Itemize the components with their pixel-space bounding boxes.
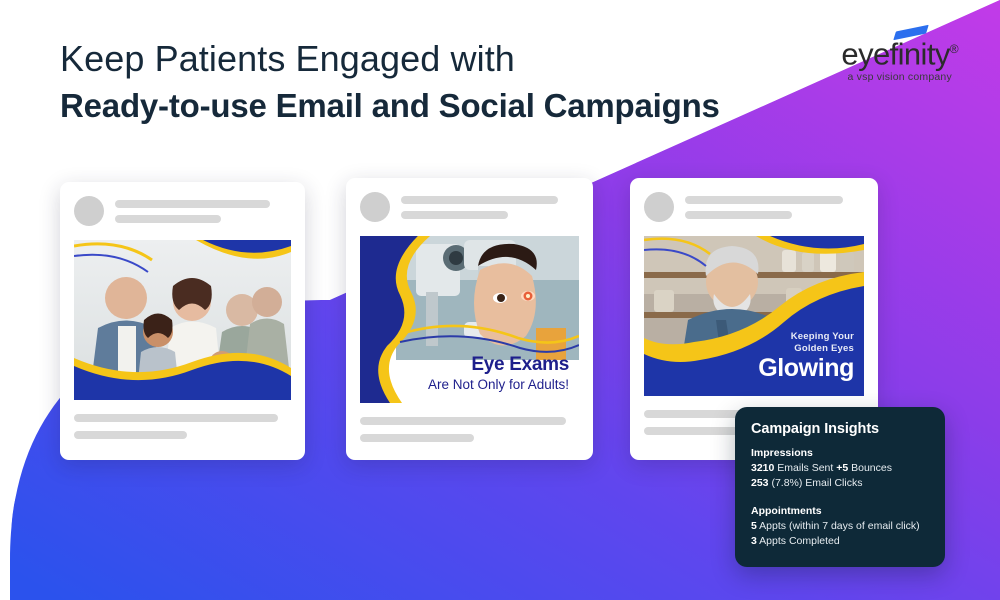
eyefinity-logo: eyefinity® a vsp vision company bbox=[841, 30, 958, 83]
insights-group-appointments: Appointments 5 Appts (within 7 days of e… bbox=[751, 504, 929, 549]
metric-text: Appts Completed bbox=[757, 535, 840, 547]
eye-exam-campaign-card[interactable]: Eye Exams Are Not Only for Adults! bbox=[346, 178, 593, 460]
card-header bbox=[346, 178, 593, 222]
card-header bbox=[60, 182, 305, 226]
header-placeholder-lines bbox=[685, 196, 864, 219]
skeleton-bar bbox=[401, 196, 558, 204]
insights-row: 3210 Emails Sent +5 Bounces bbox=[751, 461, 929, 476]
skeleton-bar bbox=[360, 417, 566, 425]
metric-text-secondary: Bounces bbox=[848, 462, 892, 474]
insights-row: 5 Appts (within 7 days of email click) bbox=[751, 519, 929, 534]
trademark-symbol: ® bbox=[950, 42, 958, 56]
metric-value: 253 bbox=[751, 477, 769, 489]
golden-eyes-caption: Keeping Your Golden Eyes Glowing bbox=[758, 331, 854, 382]
caption-line-1: Keeping Your bbox=[758, 331, 854, 343]
card-media: Eye Exams Are Not Only for Adults! bbox=[360, 236, 579, 403]
insights-group-label: Appointments bbox=[751, 504, 929, 519]
campaign-insights-panel: Campaign Insights Impressions 3210 Email… bbox=[735, 407, 945, 567]
skeleton-bar bbox=[401, 211, 508, 219]
avatar bbox=[74, 196, 104, 226]
headline-line-2: Ready-to-use Email and Social Campaigns bbox=[60, 84, 720, 128]
caption-line-2: Golden Eyes bbox=[758, 343, 854, 355]
insights-row: 253 (7.8%) Email Clicks bbox=[751, 476, 929, 491]
caption-title: Eye Exams bbox=[360, 354, 569, 375]
metric-text: (7.8%) Email Clicks bbox=[769, 477, 863, 489]
insights-group-impressions: Impressions 3210 Emails Sent +5 Bounces … bbox=[751, 446, 929, 491]
avatar bbox=[360, 192, 390, 222]
skeleton-bar bbox=[115, 200, 270, 208]
card-media: Keeping Your Golden Eyes Glowing bbox=[644, 236, 864, 396]
headline-line-1: Keep Patients Engaged with bbox=[60, 36, 720, 82]
header-placeholder-lines bbox=[115, 200, 291, 223]
header-placeholder-lines bbox=[401, 196, 579, 219]
skeleton-bar bbox=[74, 414, 278, 422]
eye-exam-caption: Eye Exams Are Not Only for Adults! bbox=[360, 354, 569, 393]
caption-subtitle: Are Not Only for Adults! bbox=[360, 376, 569, 393]
insights-group-label: Impressions bbox=[751, 446, 929, 461]
insights-title: Campaign Insights bbox=[751, 421, 929, 437]
marketing-banner: Keep Patients Engaged with Ready-to-use … bbox=[0, 0, 1000, 600]
card-footer bbox=[60, 400, 305, 455]
page-headline: Keep Patients Engaged with Ready-to-use … bbox=[60, 36, 720, 128]
metric-value: 3210 bbox=[751, 462, 774, 474]
skeleton-bar bbox=[74, 431, 187, 439]
metric-text: Appts (within 7 days of email click) bbox=[757, 520, 920, 532]
insights-row: 3 Appts Completed bbox=[751, 534, 929, 549]
family-campaign-card[interactable] bbox=[60, 182, 305, 460]
family-campaign-image bbox=[74, 240, 291, 400]
skeleton-bar bbox=[685, 196, 843, 204]
metric-text: Emails Sent bbox=[774, 462, 836, 474]
card-media bbox=[74, 240, 291, 400]
skeleton-bar bbox=[360, 434, 474, 442]
card-header bbox=[630, 178, 878, 222]
caption-line-3: Glowing bbox=[758, 355, 854, 382]
skeleton-bar bbox=[685, 211, 792, 219]
logo-mark: eyefinity® bbox=[841, 30, 958, 68]
skeleton-bar bbox=[115, 215, 221, 223]
metric-value-secondary: +5 bbox=[836, 462, 848, 474]
avatar bbox=[644, 192, 674, 222]
card-footer bbox=[346, 403, 593, 458]
